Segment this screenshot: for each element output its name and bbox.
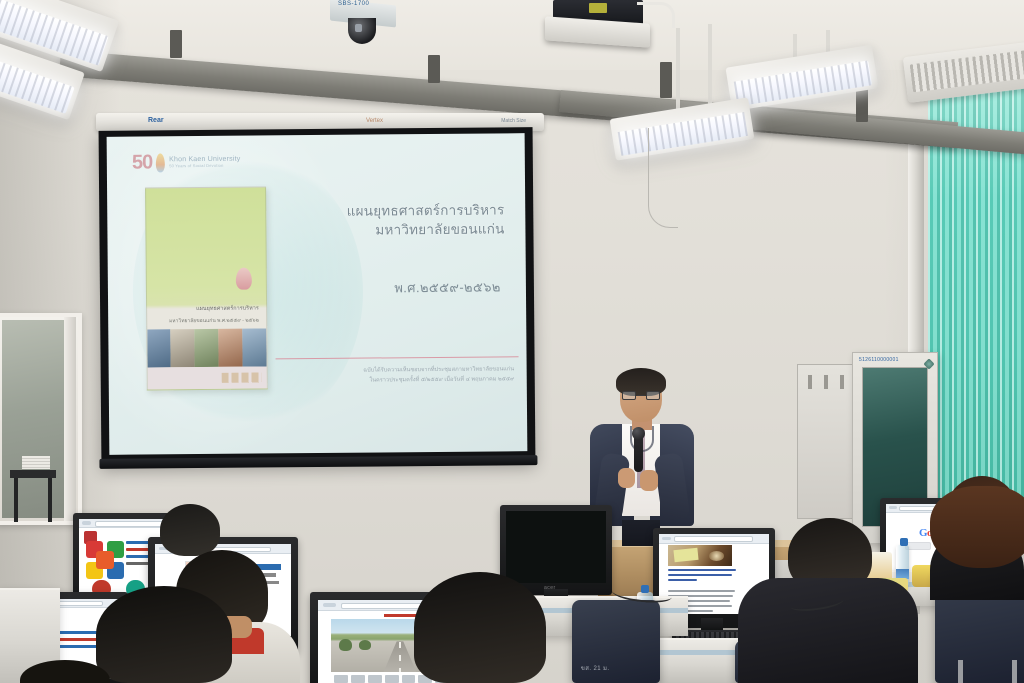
ceiling-projector	[545, 0, 650, 46]
projection-screen: Rear Vertex Match Size 50 Khon Kaen Univ…	[100, 113, 540, 473]
anniversary-number: 50	[132, 152, 152, 172]
screen-weight-bar	[99, 455, 537, 469]
book-photo-strip	[147, 328, 267, 367]
attendee-left-back-head	[160, 504, 220, 556]
beam-bracket	[856, 88, 868, 122]
window-glass	[2, 320, 64, 518]
dome-security-camera: SBS-1700	[330, 2, 396, 46]
university-tagline: 50 Years of Social Devotion	[169, 163, 240, 169]
royal-seal-icon	[235, 268, 251, 290]
slide-footnote-line2: ในคราวประชุมครั้งที่ ๕/๒๕๕๙ เมื่อวันที่ …	[272, 375, 515, 387]
hand-right	[640, 470, 658, 491]
slide-title-line2: มหาวิทยาลัยขอนแก่น	[262, 220, 505, 242]
eyeglasses-icon	[622, 391, 660, 400]
attendee-center-head	[414, 572, 546, 683]
kku-logo: 50 Khon Kaen University 50 Years of Soci…	[132, 152, 241, 173]
slide-title-line1: แผนยุทธศาสตร์การบริหาร	[262, 200, 505, 222]
metal-cabinet	[797, 364, 855, 519]
browser-toolbar[interactable]	[659, 534, 769, 544]
slide-title: แผนยุทธศาสตร์การบริหาร มหาวิทยาลัยขอนแก่…	[262, 200, 505, 241]
slide-book-cover-image: แผนยุทธศาสตร์การบริหาร มหาวิทยาลัยขอนแก่…	[145, 186, 268, 391]
chair-center[interactable]: ขส. 21 ม.	[572, 600, 660, 683]
road-centerline	[399, 642, 402, 672]
lamp-hanger-rod	[708, 24, 712, 112]
roller-label-right: Match Size	[501, 118, 526, 124]
window-curtain	[928, 88, 1024, 528]
chair-leg	[958, 660, 963, 683]
slide-footnote: ฉบับได้รับความเห็นชอบจากที่ประชุมสภามหาว…	[272, 365, 515, 386]
book-footer-marks	[221, 373, 262, 383]
puzzle-graphic	[86, 541, 124, 580]
beam-bracket	[660, 62, 672, 98]
hand-left	[618, 468, 635, 488]
stacked-papers	[22, 456, 50, 469]
table-leg	[48, 478, 52, 522]
roller-label-center: Vertex	[366, 118, 383, 124]
projected-slide: 50 Khon Kaen University 50 Years of Soci…	[107, 133, 528, 455]
attendee-front-left-head	[96, 586, 232, 683]
window-mullion	[64, 317, 76, 521]
lamp-hanger-rod	[676, 28, 680, 110]
screen-frame: 50 Khon Kaen University 50 Years of Soci…	[99, 127, 536, 465]
article-photo	[668, 545, 732, 566]
roller-label-left: Rear	[148, 117, 164, 124]
chair-label: ขส. 21 ม.	[581, 663, 610, 673]
chair-leg	[1012, 660, 1017, 683]
slide-year: พ.ศ.๒๕๕๙-๒๕๖๒	[258, 276, 501, 299]
flame-icon	[156, 153, 165, 172]
camera-label: SBS-1700	[338, 1, 369, 7]
wall-cable	[648, 128, 678, 228]
cabinet-asset-tag: 5126110000001	[859, 357, 899, 363]
classroom-photo: SBS-1700 Rear Vertex Match Size 50	[0, 0, 1024, 683]
beam-bracket	[170, 30, 182, 58]
attendee-dark-suit-body	[738, 578, 918, 683]
interior-window	[0, 313, 82, 525]
attendee-woman-right-hair	[930, 486, 1024, 568]
beam-bracket	[428, 55, 440, 83]
book-caption-line1: แผนยุทธศาสตร์การบริหาร	[196, 304, 259, 313]
microphone-icon	[634, 434, 643, 472]
book-caption-line2: มหาวิทยาลัยขอนแก่น พ.ศ.๒๕๕๙ - ๒๕๖๒	[169, 316, 259, 325]
window-room-table	[10, 470, 56, 478]
table-leg	[14, 478, 18, 522]
